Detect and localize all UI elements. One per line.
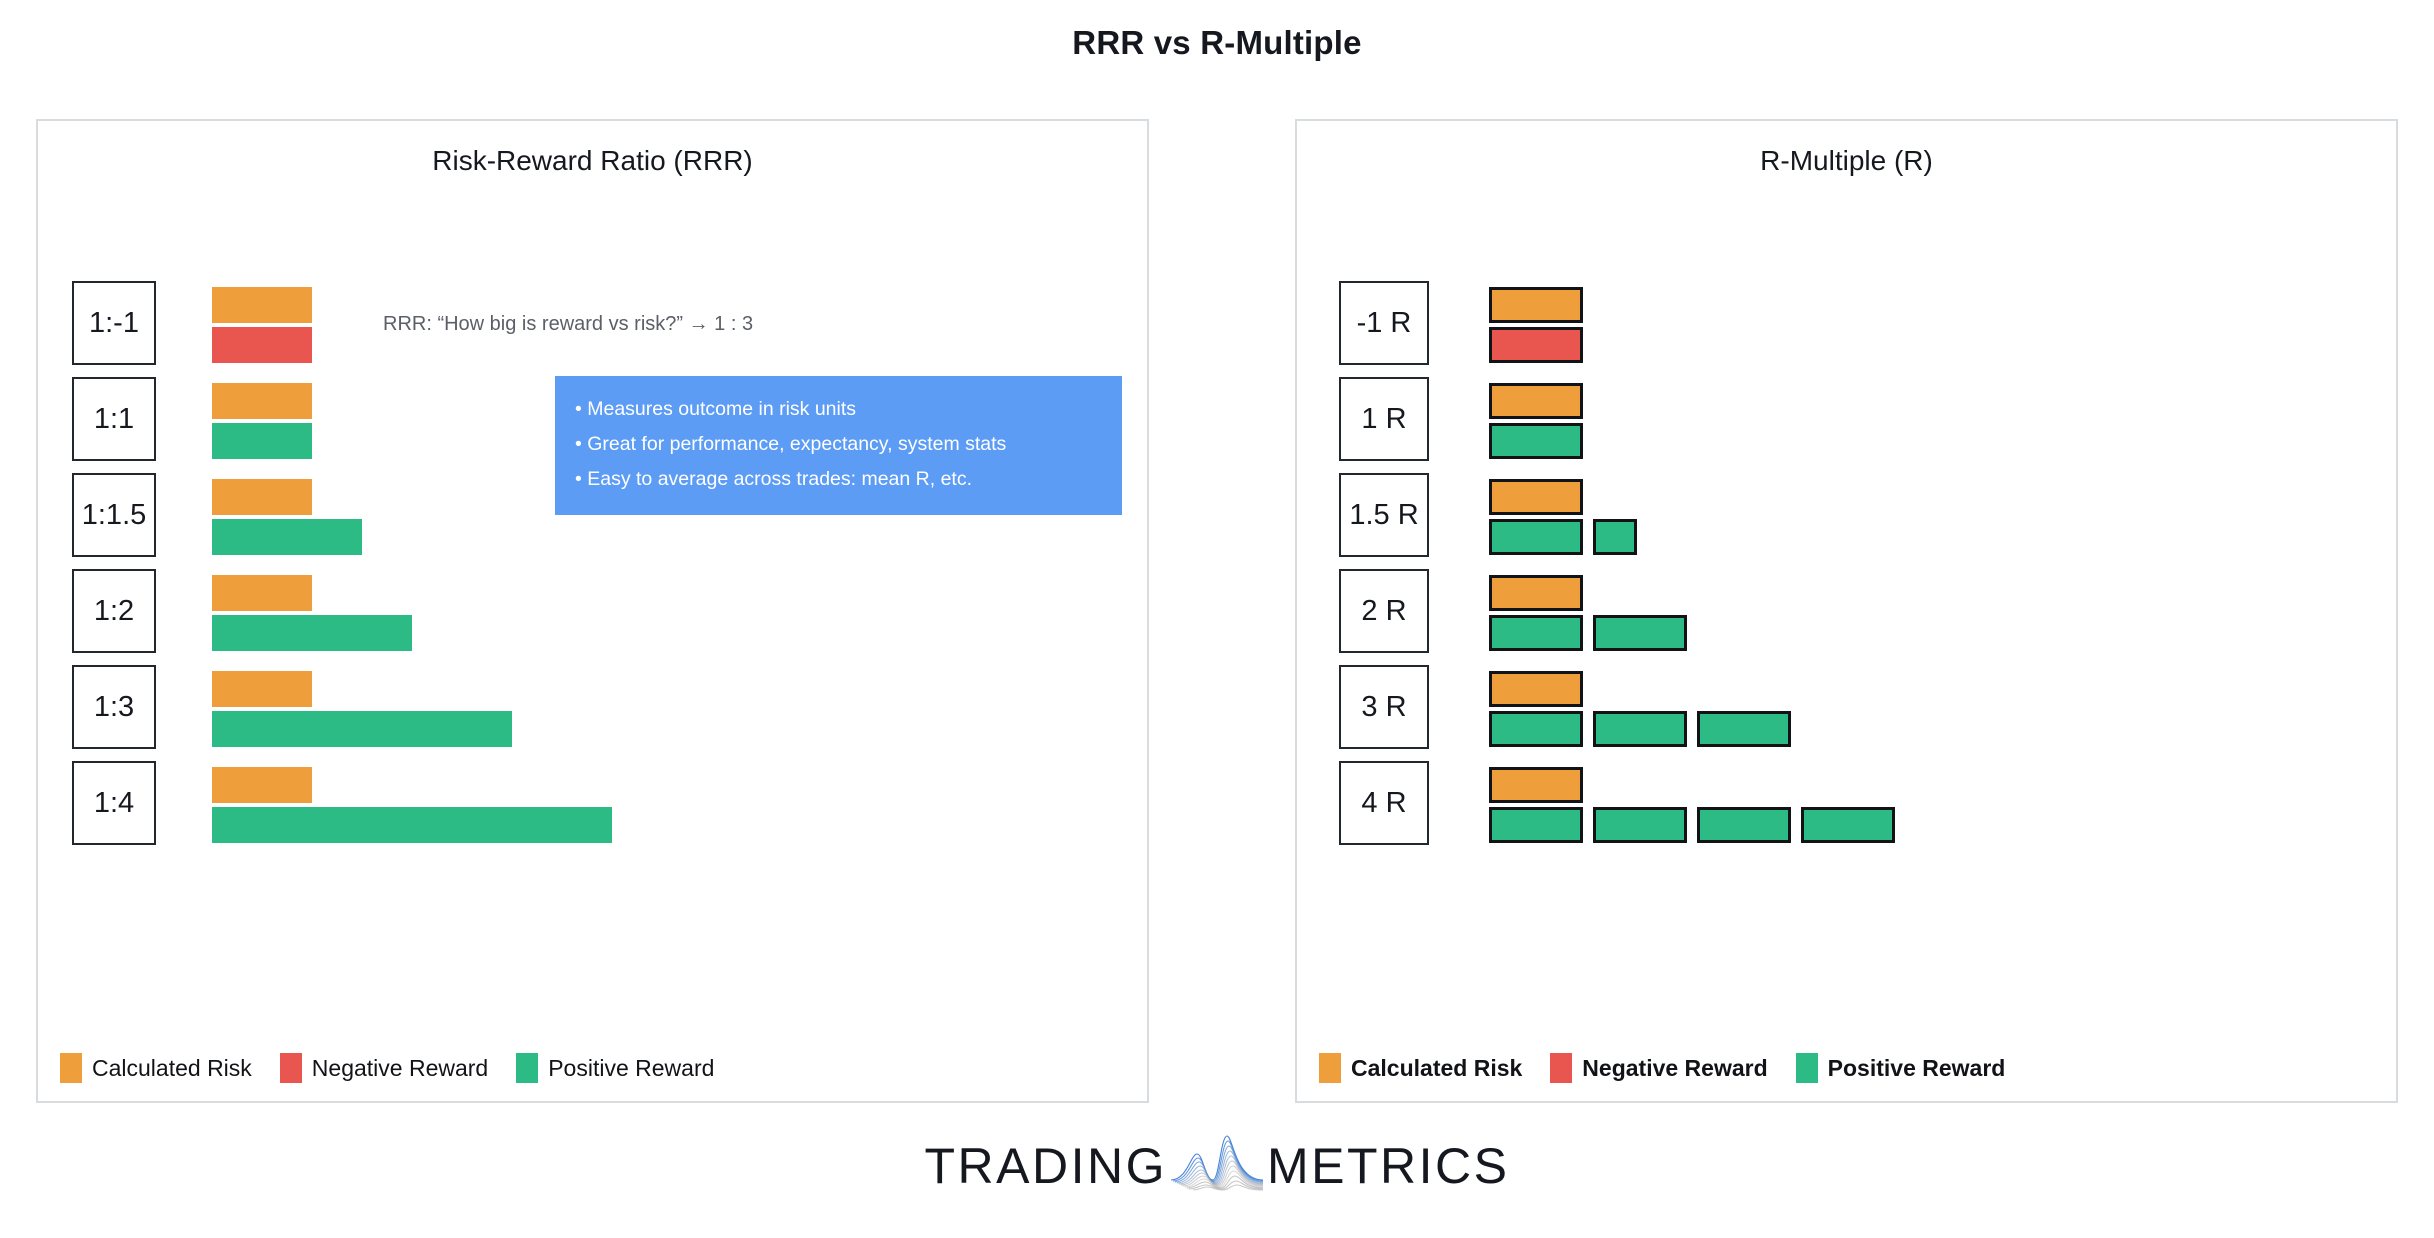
row-label: 1:2 [72, 569, 156, 653]
row-label: 1.5 R [1339, 473, 1429, 557]
row-bars [212, 767, 612, 843]
legend-swatch-negative-reward [1550, 1053, 1572, 1083]
reward-bar-line [1489, 423, 1583, 459]
row-bars [1489, 287, 1583, 363]
chart-page: RRR vs R-Multiple Risk-Reward Ratio (RRR… [0, 0, 2434, 1238]
row-bars [1489, 671, 1791, 747]
legend-label: Positive Reward [1828, 1055, 2006, 1082]
risk-bar-line [212, 479, 362, 515]
legend-swatch-negative-reward [280, 1053, 302, 1083]
row-bars [1489, 575, 1687, 651]
legend-item: Positive Reward [516, 1053, 714, 1083]
panel-r-multiple: R-Multiple (R) R: “How many R did I gain… [1295, 119, 2398, 1103]
row-bars [1489, 479, 1637, 555]
reward-block [1489, 519, 1583, 555]
row-bars [212, 575, 412, 651]
reward-block [212, 327, 312, 363]
reward-block [1593, 711, 1687, 747]
logo-word-trading: TRADING [925, 1137, 1168, 1195]
risk-bar-line [212, 671, 512, 707]
reward-bar-line [212, 615, 412, 651]
row-label: 1 R [1339, 377, 1429, 461]
reward-bar-line [212, 423, 312, 459]
risk-block [1489, 287, 1583, 323]
legend-swatch-positive-reward [1796, 1053, 1818, 1083]
reward-bar-line [212, 807, 612, 843]
reward-block [1489, 327, 1583, 363]
risk-block [212, 767, 312, 803]
row-bars [1489, 767, 1895, 843]
reward-block [212, 711, 512, 747]
waveform-icon [1169, 1128, 1265, 1204]
legend-item: Positive Reward [1796, 1053, 2006, 1083]
risk-block [212, 479, 312, 515]
legend-label: Positive Reward [548, 1055, 714, 1082]
row-label: 3 R [1339, 665, 1429, 749]
legend-swatch-risk [1319, 1053, 1341, 1083]
risk-bar-line [1489, 671, 1791, 707]
risk-bar-line [212, 287, 312, 323]
risk-block [1489, 671, 1583, 707]
reward-block [1801, 807, 1895, 843]
row-bars [212, 671, 512, 747]
risk-bar-line [1489, 287, 1583, 323]
panel-subtitle: RRR: “How big is reward vs risk?” → 1 : … [383, 313, 753, 336]
panel-title: R-Multiple (R) [1297, 145, 2396, 177]
reward-block [1489, 615, 1583, 651]
reward-bar-line [212, 711, 512, 747]
callout-line: • Measures outcome in risk units [575, 392, 1102, 427]
risk-block [1489, 479, 1583, 515]
risk-block [212, 287, 312, 323]
reward-block [1593, 807, 1687, 843]
row-label: 1:4 [72, 761, 156, 845]
reward-block [1593, 615, 1687, 651]
panel-rrr: Risk-Reward Ratio (RRR) RRR: “How big is… [36, 119, 1149, 1103]
risk-block [1489, 767, 1583, 803]
reward-block [212, 807, 612, 843]
reward-block [1489, 807, 1583, 843]
reward-bar-line [1489, 615, 1687, 651]
risk-bar-line [1489, 383, 1583, 419]
reward-bar-line [212, 327, 312, 363]
risk-bar-line [1489, 575, 1687, 611]
row-bars [212, 383, 312, 459]
reward-bar-line [1489, 807, 1895, 843]
legend-rrr: Calculated RiskNegative RewardPositive R… [60, 1053, 742, 1083]
legend-item: Negative Reward [280, 1053, 488, 1083]
row-label: 1:1.5 [72, 473, 156, 557]
page-title: RRR vs R-Multiple [0, 24, 2434, 62]
risk-block [1489, 383, 1583, 419]
callout-line: • Easy to average across trades: mean R,… [575, 462, 1102, 497]
reward-block [1697, 711, 1791, 747]
row-label: -1 R [1339, 281, 1429, 365]
legend-label: Calculated Risk [1351, 1055, 1522, 1082]
panel-title: Risk-Reward Ratio (RRR) [38, 145, 1147, 177]
reward-block [1489, 423, 1583, 459]
reward-block [1489, 711, 1583, 747]
reward-block [212, 423, 312, 459]
legend-item: Negative Reward [1550, 1053, 1767, 1083]
risk-block [212, 671, 312, 707]
risk-bar-line [212, 383, 312, 419]
legend-label: Negative Reward [312, 1055, 488, 1082]
legend-r-multiple: Calculated RiskNegative RewardPositive R… [1319, 1053, 2033, 1083]
row-bars [1489, 383, 1583, 459]
risk-bar-line [212, 767, 612, 803]
risk-block [212, 383, 312, 419]
reward-bar-line [1489, 711, 1791, 747]
legend-label: Negative Reward [1582, 1055, 1767, 1082]
footer-logo: TRADING METRICS [0, 1128, 2434, 1204]
risk-bar-line [1489, 479, 1637, 515]
legend-item: Calculated Risk [1319, 1053, 1522, 1083]
reward-bar-line [1489, 327, 1583, 363]
row-label: 1:-1 [72, 281, 156, 365]
reward-bar-line [212, 519, 362, 555]
risk-block [1489, 575, 1583, 611]
risk-bar-line [212, 575, 412, 611]
row-label: 1:1 [72, 377, 156, 461]
risk-bar-line [1489, 767, 1895, 803]
reward-bar-line [1489, 519, 1637, 555]
reward-block [1593, 519, 1637, 555]
row-label: 4 R [1339, 761, 1429, 845]
reward-block [212, 615, 412, 651]
row-bars [212, 287, 312, 363]
legend-swatch-positive-reward [516, 1053, 538, 1083]
row-bars [212, 479, 362, 555]
callout-box-rrr: • Measures outcome in risk units • Great… [555, 376, 1122, 515]
logo-word-metrics: METRICS [1267, 1137, 1510, 1195]
legend-swatch-risk [60, 1053, 82, 1083]
legend-label: Calculated Risk [92, 1055, 252, 1082]
row-label: 1:3 [72, 665, 156, 749]
reward-block [1697, 807, 1791, 843]
callout-line: • Great for performance, expectancy, sys… [575, 427, 1102, 462]
legend-item: Calculated Risk [60, 1053, 252, 1083]
reward-block [212, 519, 362, 555]
row-label: 2 R [1339, 569, 1429, 653]
risk-block [212, 575, 312, 611]
